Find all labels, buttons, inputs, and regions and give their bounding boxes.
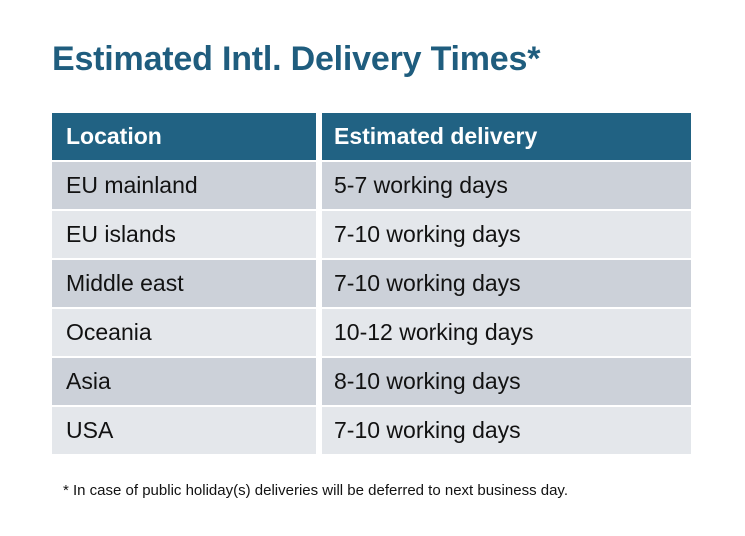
- cell-estimated-delivery: 7-10 working days: [322, 211, 691, 258]
- cell-estimated-delivery: 7-10 working days: [322, 260, 691, 307]
- table-row: EU islands 7-10 working days: [52, 211, 691, 258]
- cell-location: Asia: [52, 358, 316, 405]
- cell-location: EU mainland: [52, 162, 316, 209]
- cell-estimated-delivery: 7-10 working days: [322, 407, 691, 454]
- cell-location: USA: [52, 407, 316, 454]
- estimated-delivery-times-table: Location Estimated delivery EU mainland …: [52, 113, 691, 456]
- table-row: USA 7-10 working days: [52, 407, 691, 454]
- table-header-row: Location Estimated delivery: [52, 113, 691, 160]
- footnote-public-holiday: * In case of public holiday(s) deliverie…: [63, 482, 568, 499]
- table-row: Middle east 7-10 working days: [52, 260, 691, 307]
- cell-estimated-delivery: 10-12 working days: [322, 309, 691, 356]
- column-header-estimated-delivery: Estimated delivery: [322, 113, 691, 160]
- cell-estimated-delivery: 5-7 working days: [322, 162, 691, 209]
- cell-location: Oceania: [52, 309, 316, 356]
- cell-estimated-delivery: 8-10 working days: [322, 358, 691, 405]
- cell-location: EU islands: [52, 211, 316, 258]
- table-row: Oceania 10-12 working days: [52, 309, 691, 356]
- table-row: Asia 8-10 working days: [52, 358, 691, 405]
- table-row: EU mainland 5-7 working days: [52, 162, 691, 209]
- cell-location: Middle east: [52, 260, 316, 307]
- delivery-times-page: Estimated Intl. Delivery Times* Location…: [0, 0, 745, 536]
- column-header-location: Location: [52, 113, 316, 160]
- page-title: Estimated Intl. Delivery Times*: [52, 38, 540, 80]
